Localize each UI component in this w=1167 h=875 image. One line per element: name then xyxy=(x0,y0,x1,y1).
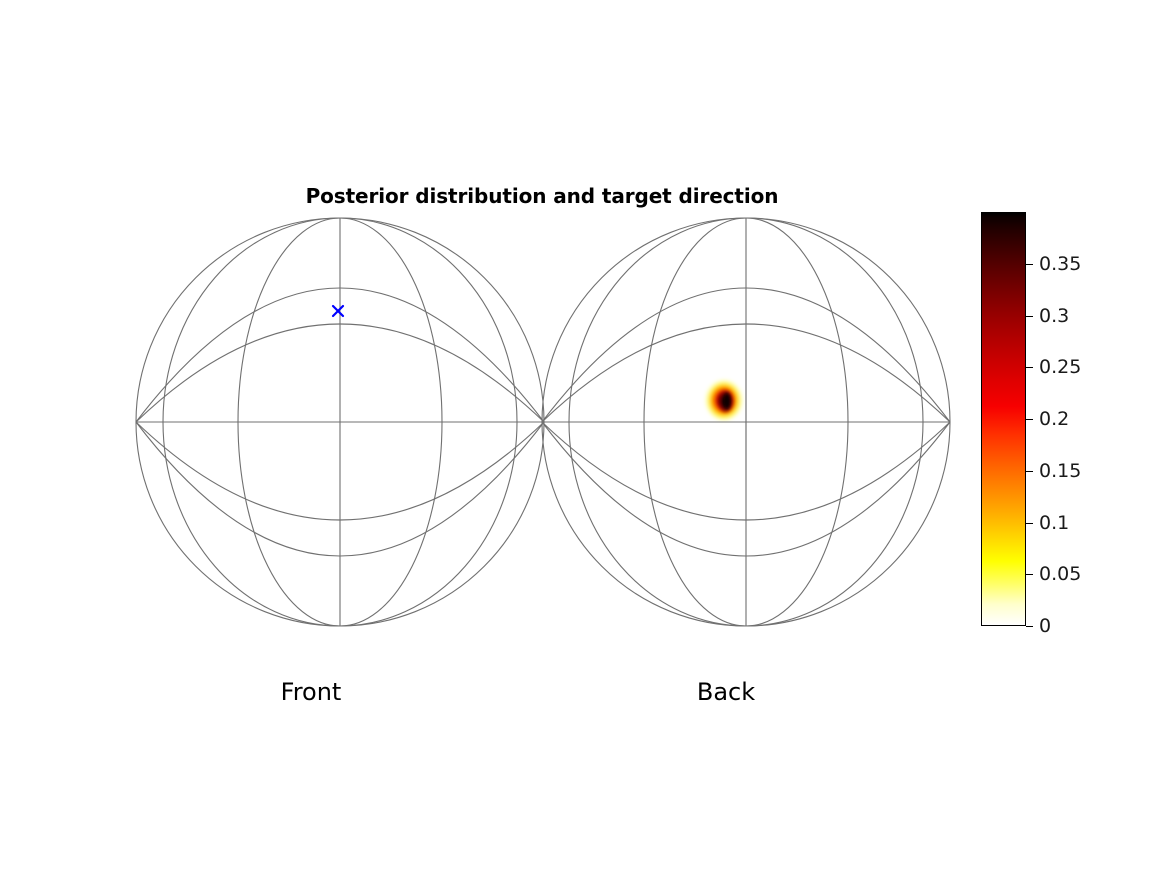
colorbar-ticklabel-0.05: 0.05 xyxy=(1039,563,1081,585)
colorbar-ticklabel-0.2: 0.2 xyxy=(1039,408,1069,430)
colorbar-ticklabel-0.15: 0.15 xyxy=(1039,460,1081,482)
colorbar-ticklabel-0.25: 0.25 xyxy=(1039,356,1081,378)
density-blob-peak xyxy=(724,393,730,409)
colorbar-tick-0.25 xyxy=(1026,367,1033,368)
figure-canvas: Posterior distribution and target direct… xyxy=(0,0,1167,875)
colorbar-tick-0.1 xyxy=(1026,523,1033,524)
posterior-density-blob xyxy=(705,378,743,420)
colorbar-ticklabel-0.1: 0.1 xyxy=(1039,512,1069,534)
colorbar-tick-0.15 xyxy=(1026,471,1033,472)
colorbar-ticklabel-0: 0 xyxy=(1039,615,1051,637)
panel-label-front: Front xyxy=(211,678,411,706)
panel-label-back: Back xyxy=(626,678,826,706)
colorbar-tick-0.05 xyxy=(1026,574,1033,575)
colorbar-ticklabel-0.3: 0.3 xyxy=(1039,305,1069,327)
target-direction-marker xyxy=(333,306,343,316)
colorbar-tick-0 xyxy=(1026,626,1033,627)
colorbar-ticklabel-0.35: 0.35 xyxy=(1039,253,1081,275)
hemisphere-front xyxy=(136,218,544,626)
colorbar-tick-0.35 xyxy=(1026,264,1033,265)
colorbar-gradient xyxy=(981,212,1026,626)
colorbar-tick-0.3 xyxy=(1026,316,1033,317)
colorbar: 0 0.05 0.1 0.15 0.2 0.25 0.3 0.35 xyxy=(981,212,1026,626)
colorbar-tick-0.2 xyxy=(1026,419,1033,420)
